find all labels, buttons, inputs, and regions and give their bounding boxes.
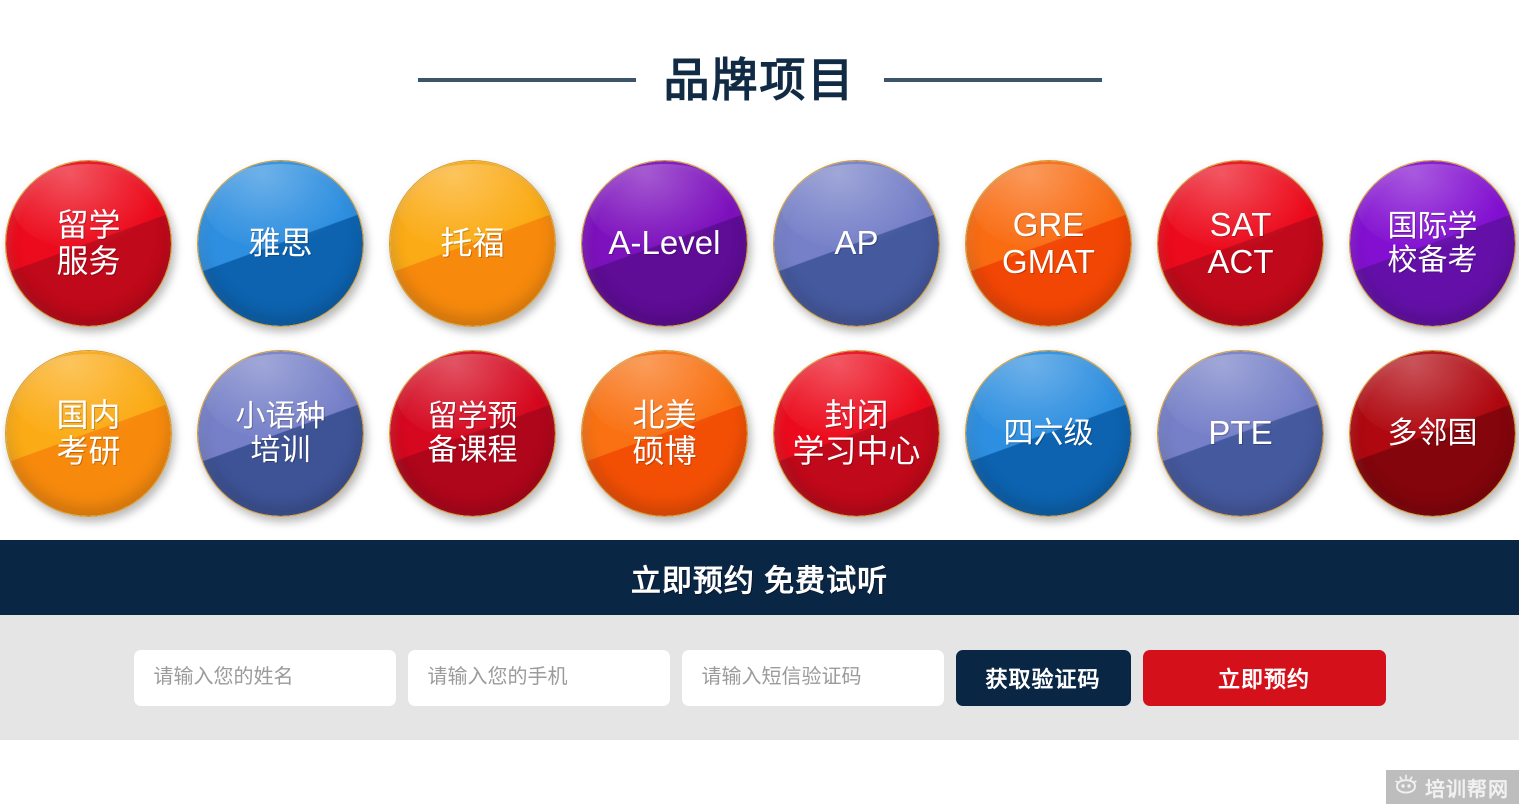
program-bubble[interactable]: 国际学 校备考 bbox=[1349, 160, 1516, 327]
program-bubble[interactable]: 国内 考研 bbox=[5, 350, 172, 517]
program-row-2: 国内 考研小语种 培训留学预 备课程北美 硕博封闭 学习中心四六级PTE多邻国 bbox=[5, 350, 1519, 517]
watermark: 培训帮网 bbox=[1386, 770, 1519, 804]
program-bubble-label: 托福 bbox=[440, 226, 504, 262]
program-bubble-label: PTE bbox=[1208, 415, 1272, 452]
appointment-form: 获取验证码 立即预约 bbox=[0, 615, 1519, 740]
program-bubble[interactable]: SAT ACT bbox=[1157, 160, 1324, 327]
appointment-banner-text: 立即预约 免费试听 bbox=[631, 556, 888, 600]
program-bubble[interactable]: GRE GMAT bbox=[965, 160, 1132, 327]
program-bubble-label: GRE GMAT bbox=[1002, 207, 1095, 281]
name-input[interactable] bbox=[134, 650, 396, 706]
program-bubble[interactable]: PTE bbox=[1157, 350, 1324, 517]
title-rule-right bbox=[884, 78, 1102, 82]
program-bubble-label: 留学 服务 bbox=[56, 208, 120, 280]
program-bubble-label: AP bbox=[834, 225, 878, 262]
program-bubble[interactable]: A-Level bbox=[581, 160, 748, 327]
program-bubble-label: 封闭 学习中心 bbox=[792, 398, 920, 470]
appointment-banner: 立即预约 免费试听 bbox=[0, 540, 1519, 615]
program-bubble[interactable]: 留学 服务 bbox=[5, 160, 172, 327]
program-bubble-label: SAT ACT bbox=[1208, 207, 1274, 281]
program-bubble-label: 国内 考研 bbox=[56, 398, 120, 470]
sms-code-input[interactable] bbox=[682, 650, 944, 706]
page-title: 品牌项目 bbox=[664, 57, 856, 103]
program-bubble-label: 四六级 bbox=[1004, 417, 1094, 451]
program-bubble[interactable]: AP bbox=[773, 160, 940, 327]
program-bubble[interactable]: 多邻国 bbox=[1349, 350, 1516, 517]
section-header: 品牌项目 bbox=[0, 0, 1519, 160]
program-bubble[interactable]: 四六级 bbox=[965, 350, 1132, 517]
program-bubble-label: 国际学 校备考 bbox=[1388, 210, 1478, 277]
program-bubble-label: 多邻国 bbox=[1388, 417, 1478, 451]
program-bubble[interactable]: 雅思 bbox=[197, 160, 364, 327]
program-row-1: 留学 服务雅思托福A-LevelAPGRE GMATSAT ACT国际学 校备考 bbox=[5, 160, 1519, 327]
program-bubble-label: 留学预 备课程 bbox=[428, 400, 518, 467]
program-bubble[interactable]: 小语种 培训 bbox=[197, 350, 364, 517]
program-bubble[interactable]: 托福 bbox=[389, 160, 556, 327]
program-bubble[interactable]: 封闭 学习中心 bbox=[773, 350, 940, 517]
sun-eye-icon bbox=[1394, 774, 1418, 801]
program-bubble-label: 雅思 bbox=[248, 226, 312, 262]
program-bubble[interactable]: 北美 硕博 bbox=[581, 350, 748, 517]
program-bubble-label: 北美 硕博 bbox=[632, 398, 696, 470]
watermark-text: 培训帮网 bbox=[1425, 773, 1509, 802]
title-rule-left bbox=[418, 78, 636, 82]
program-grid: 留学 服务雅思托福A-LevelAPGRE GMATSAT ACT国际学 校备考… bbox=[0, 160, 1519, 517]
phone-input[interactable] bbox=[408, 650, 670, 706]
program-bubble-label: 小语种 培训 bbox=[236, 400, 326, 467]
program-bubble[interactable]: 留学预 备课程 bbox=[389, 350, 556, 517]
program-bubble-label: A-Level bbox=[609, 225, 721, 262]
get-code-button[interactable]: 获取验证码 bbox=[956, 650, 1131, 706]
submit-appointment-button[interactable]: 立即预约 bbox=[1143, 650, 1386, 706]
